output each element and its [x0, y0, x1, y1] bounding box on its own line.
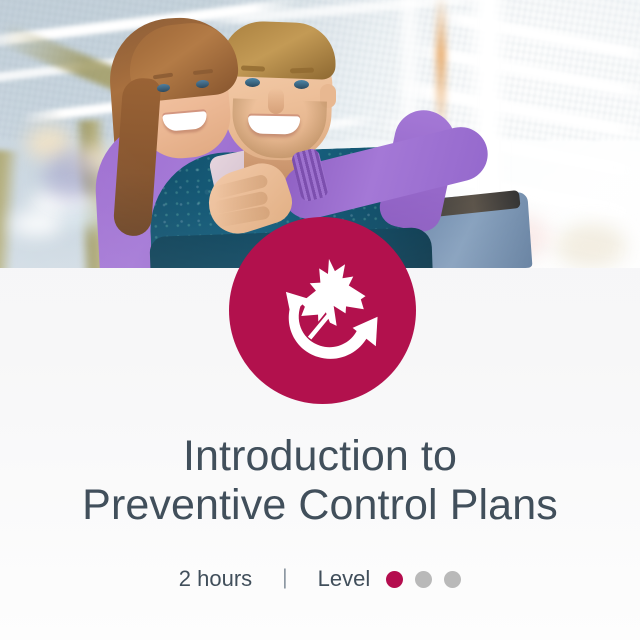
level-dot-2	[415, 571, 432, 588]
course-level-label: Level	[318, 566, 371, 592]
course-level-indicator	[386, 571, 461, 588]
meta-separator: |	[282, 565, 287, 591]
man-smile	[248, 116, 300, 135]
man-eye	[245, 78, 260, 87]
man-eye	[294, 80, 309, 89]
maple-leaf-cycle-icon	[261, 249, 385, 373]
course-title: Introduction to Preventive Control Plans	[0, 432, 640, 530]
man-hair	[221, 20, 337, 80]
level-dot-3	[444, 571, 461, 588]
level-dot-1	[386, 571, 403, 588]
course-promo-card: Introduction to Preventive Control Plans…	[0, 0, 640, 640]
man-eyebrow	[290, 68, 314, 74]
course-meta-row: 2 hours | Level	[0, 566, 640, 592]
course-duration: 2 hours	[179, 566, 252, 592]
brand-logo-badge	[229, 217, 416, 404]
